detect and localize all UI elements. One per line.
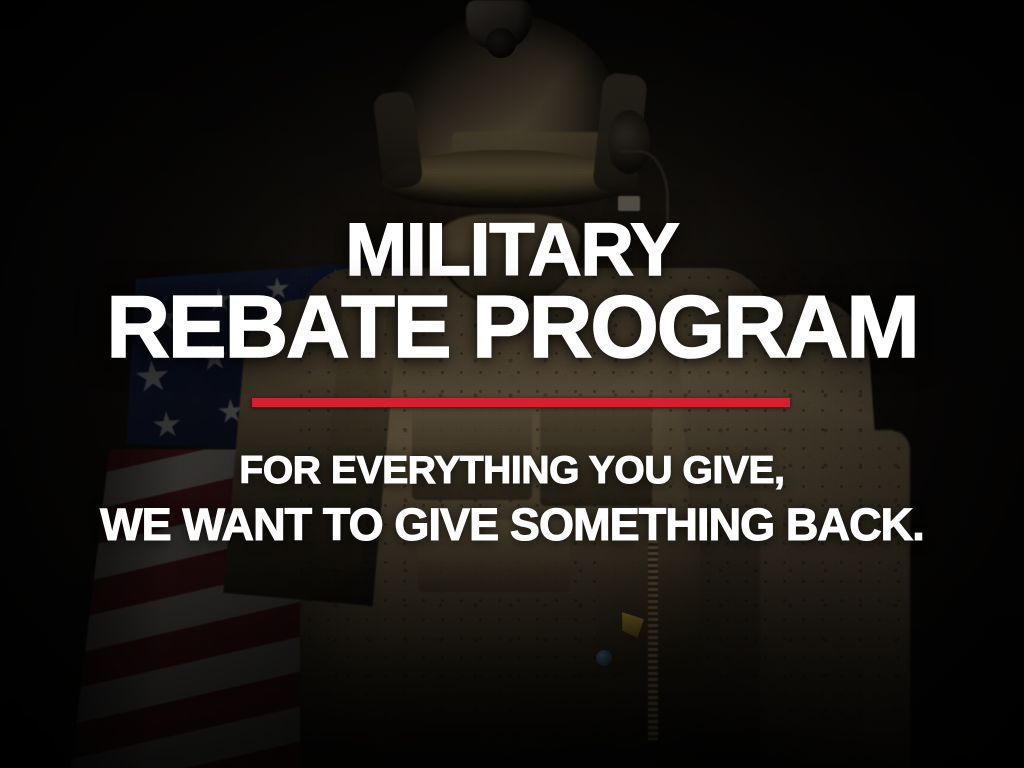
subheadline: FOR EVERYTHING YOU GIVE, WE WANT TO GIVE… [0,446,1024,554]
subheadline-line-1: FOR EVERYTHING YOU GIVE, [0,446,1024,496]
headline: MILITARY REBATE PROGRAM [0,214,1024,370]
subheadline-line-2: WE WANT TO GIVE SOMETHING BACK. [0,496,1024,554]
headline-line-2: REBATE PROGRAM [0,285,1024,369]
headline-line-1: MILITARY [0,214,1024,285]
red-divider-rule [252,398,790,407]
military-rebate-banner: MILITARY REBATE PROGRAM FOR EVERYTHING Y… [0,0,1024,768]
text-overlay: MILITARY REBATE PROGRAM FOR EVERYTHING Y… [0,0,1024,768]
